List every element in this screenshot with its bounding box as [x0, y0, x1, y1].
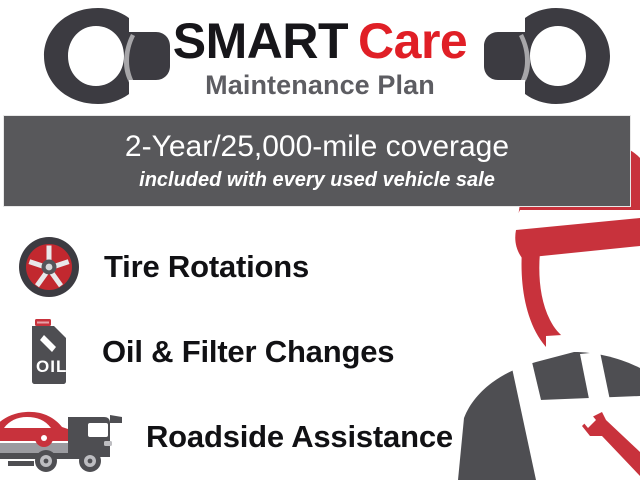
feature-item-oil-filter-changes: OIL Oil & Filter Changes [22, 312, 394, 392]
brand-secondary-text: Care [358, 13, 467, 69]
feature-item-roadside-assistance: Roadside Assistance [0, 397, 453, 477]
feature-label: Roadside Assistance [146, 419, 453, 455]
brand-primary-text: SMART [173, 13, 348, 69]
feature-label: Tire Rotations [104, 249, 309, 285]
oil-jug-text: OIL [36, 357, 67, 376]
coverage-subline: included with every used vehicle sale [139, 167, 495, 193]
logo-wordmark-block: SMARTCare Maintenance Plan [0, 14, 640, 101]
feature-item-tire-rotations: Tire Rotations [18, 227, 309, 307]
wrench-icon [582, 412, 640, 476]
tow-truck-icon [0, 401, 128, 473]
coverage-headline: 2-Year/25,000-mile coverage [125, 129, 509, 165]
logo-header: SMARTCare Maintenance Plan [0, 0, 640, 115]
brand-subtitle: Maintenance Plan [0, 69, 640, 101]
tire-icon [18, 236, 80, 298]
brand-wordmark: SMARTCare [0, 14, 640, 68]
smart-care-maintenance-plan-card: SMARTCare Maintenance Plan 2-Year/25,000… [0, 0, 640, 480]
coverage-banner: 2-Year/25,000-mile coverage included wit… [3, 115, 631, 207]
feature-label: Oil & Filter Changes [102, 334, 394, 370]
oil-jug-icon: OIL [22, 319, 74, 385]
